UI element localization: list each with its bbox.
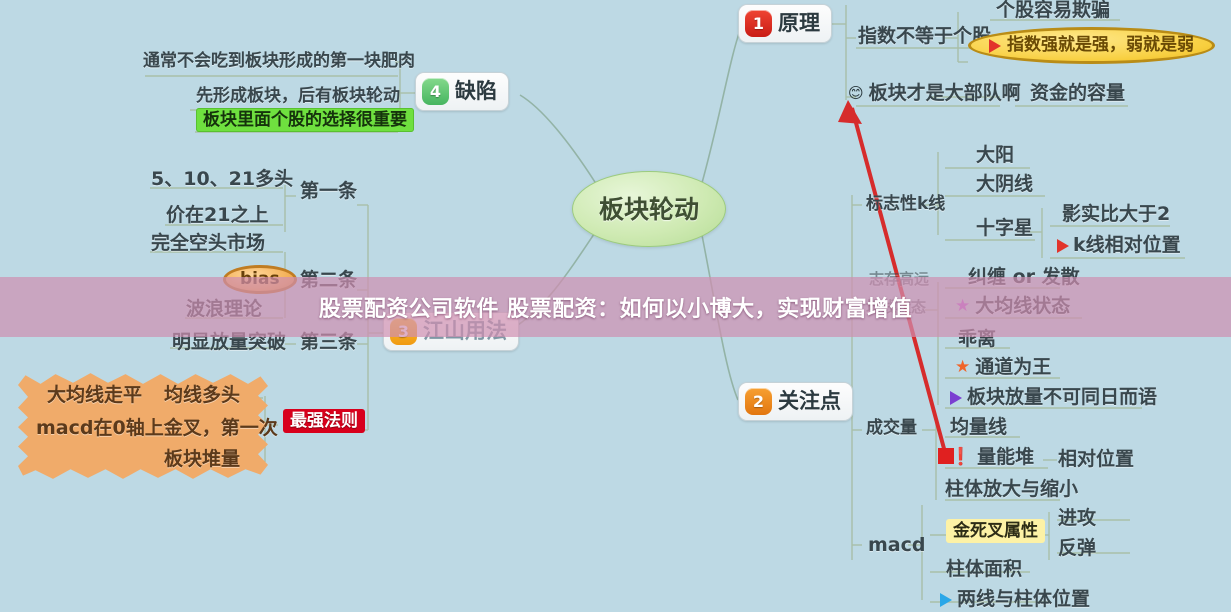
focus-group-volume[interactable]: 成交量 (866, 420, 917, 437)
kline-item-1[interactable]: 大阳 (976, 146, 1014, 165)
principle-item-2[interactable]: 😊 板块才是大部队啊 (848, 84, 1021, 103)
volume-item-2[interactable]: ❗ 量能堆 (950, 448, 1034, 467)
volume-sub-1[interactable]: 相对位置 (1058, 450, 1134, 469)
ma-item-5[interactable]: 板块放量不可同日而语 (950, 388, 1157, 407)
branch-label: 缺陷 (455, 81, 497, 102)
macd-sub-2[interactable]: 反弹 (1058, 539, 1096, 558)
ma-item-4[interactable]: ★ 通道为王 (955, 358, 1051, 377)
play-triangle-red-icon (989, 39, 1001, 53)
strongest-item-1[interactable]: 大均线走平 (47, 386, 142, 405)
defect-item-1[interactable]: 通常不会吃到板块形成的第一块肥肉 (143, 53, 415, 70)
kline-sub-2-label: k线相对位置 (1073, 236, 1181, 255)
kline-item-2[interactable]: 大阴线 (976, 175, 1033, 194)
volume-item-1[interactable]: 均量线 (950, 418, 1007, 437)
ma-item-4-label: 通道为王 (975, 358, 1051, 377)
branch-principle[interactable]: 1 原理 (738, 4, 832, 43)
focus-group-kline[interactable]: 标志性k线 (866, 196, 945, 213)
promo-banner: 股票配资公司软件 股票配资：如何以小博大，实现财富增值 (0, 277, 1231, 337)
principle-item-2-label: 板块才是大部队啊 (869, 84, 1021, 103)
macd-item-1[interactable]: 金死叉属性 (946, 523, 1045, 540)
play-triangle-red-icon (1057, 239, 1069, 253)
play-triangle-purple-icon (950, 391, 962, 405)
strongest-item-4[interactable]: 板块堆量 (164, 450, 240, 469)
principle-callout[interactable]: 指数强就是强，弱就是弱 (968, 27, 1215, 64)
branch-number-badge: 1 (745, 10, 772, 37)
defect-item-2[interactable]: 先形成板块，后有板块轮动 (196, 88, 400, 105)
principle-callout-label: 指数强就是强，弱就是弱 (1007, 37, 1194, 54)
rule-1-item-2[interactable]: 价在21之上 (166, 206, 268, 225)
smile-emoji-icon: 😊 (848, 86, 864, 101)
star-orange-icon: ★ (955, 359, 970, 376)
kline-item-3[interactable]: 十字星 (976, 219, 1033, 238)
branch-label: 关注点 (778, 391, 841, 412)
central-topic[interactable]: 板块轮动 (572, 171, 726, 247)
strongest-item-2[interactable]: 均线多头 (164, 386, 240, 405)
volume-item-3[interactable]: 柱体放大与缩小 (945, 480, 1078, 499)
kline-sub-2[interactable]: k线相对位置 (1057, 236, 1181, 255)
macd-sub-1[interactable]: 进攻 (1058, 509, 1096, 528)
exclamation-purple-icon: ❗ (950, 449, 971, 466)
mindmap-canvas: 板块轮动 4 缺陷 通常不会吃到板块形成的第一块肥肉 先形成板块，后有板块轮动 … (0, 0, 1231, 612)
macd-item-3-label: 两线与柱体位置 (957, 590, 1090, 609)
promo-banner-text: 股票配资公司软件 股票配资：如何以小博大，实现财富增值 (319, 291, 912, 323)
macd-item-2[interactable]: 柱体面积 (946, 560, 1022, 579)
focus-group-macd[interactable]: macd (868, 536, 925, 555)
macd-item-3[interactable]: 两线与柱体位置 (940, 590, 1090, 609)
principle-item-1-child[interactable]: 个股容易欺骗 (996, 1, 1110, 20)
strongest-item-3[interactable]: macd在0轴上金叉，第一次 (36, 419, 278, 438)
volume-item-2-label: 量能堆 (977, 448, 1034, 467)
rule-1-item-1[interactable]: 5、10、21多头 (151, 170, 293, 189)
play-triangle-blue-icon (940, 593, 952, 607)
strongest-rule-label: 最强法则 (283, 409, 365, 433)
branch-number-badge: 4 (422, 78, 449, 105)
strongest-rule-badge[interactable]: 最强法则 (283, 413, 365, 430)
branch-focus[interactable]: 2 关注点 (738, 382, 853, 421)
branch-defect[interactable]: 4 缺陷 (415, 72, 509, 111)
rule-2-item-1[interactable]: 完全空头市场 (151, 234, 265, 253)
principle-item-2-child[interactable]: 资金的容量 (1030, 84, 1125, 103)
defect-item-3-label: 板块里面个股的选择很重要 (196, 108, 414, 132)
branch-label: 原理 (778, 13, 820, 34)
kline-sub-1[interactable]: 影实比大于2 (1062, 205, 1170, 224)
ma-item-5-label: 板块放量不可同日而语 (967, 388, 1157, 407)
macd-item-1-label: 金死叉属性 (946, 519, 1045, 543)
rule-1-label[interactable]: 第一条 (300, 182, 357, 201)
defect-item-3[interactable]: 板块里面个股的选择很重要 (196, 112, 414, 129)
branch-number-badge: 2 (745, 388, 772, 415)
